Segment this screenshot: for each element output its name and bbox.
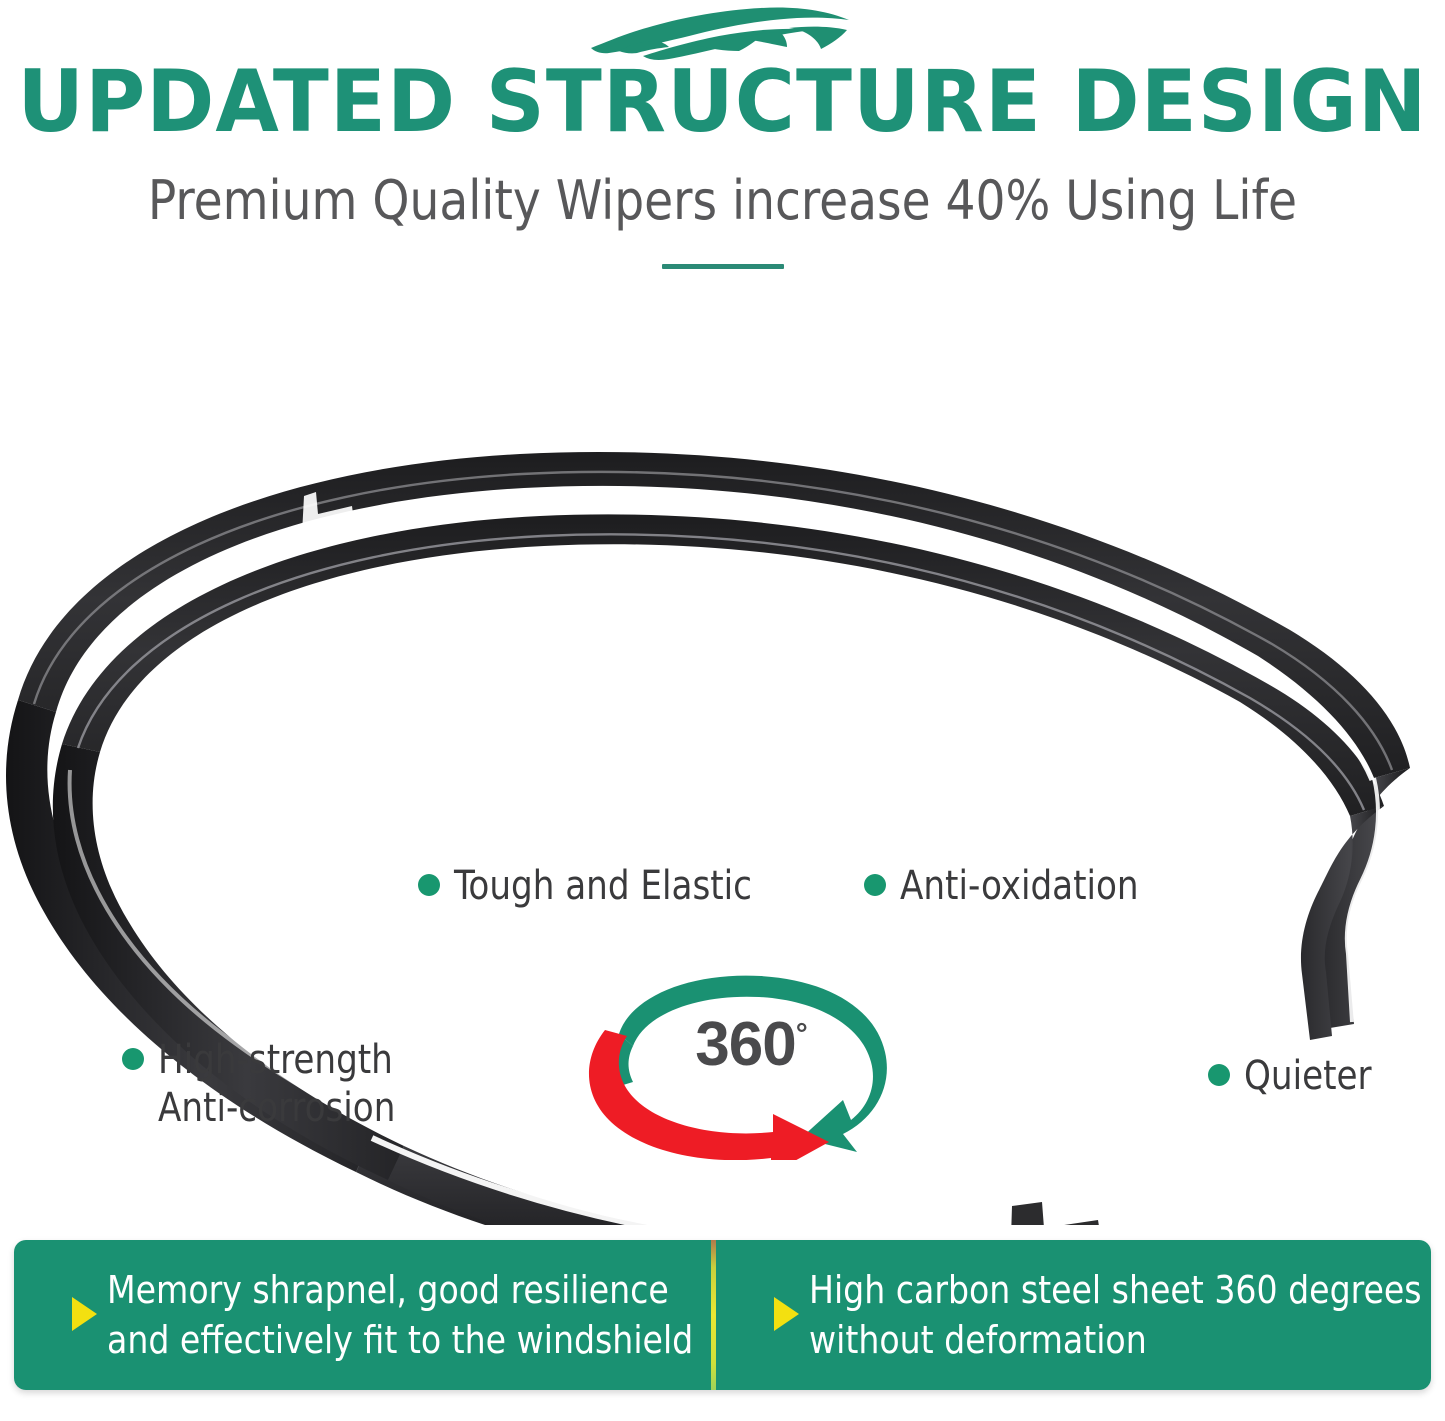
banner-panel-text: Memory shrapnel, good resilience and eff… (107, 1265, 693, 1365)
bullet-dot-icon (1208, 1064, 1230, 1086)
feature-tough-and-elastic: Tough and Elastic (418, 862, 768, 910)
feature-label-text: Anti-oxidation (900, 862, 1139, 910)
feature-label-text: Tough and Elastic (454, 862, 752, 910)
feature-anti-oxidation: Anti-oxidation (864, 862, 1151, 910)
banner-line-1: High carbon steel sheet 360 degrees (809, 1268, 1422, 1312)
triangle-arrow-icon (72, 1297, 97, 1331)
bullet-dot-icon (864, 874, 886, 896)
banner-line-1: Memory shrapnel, good resilience (107, 1268, 669, 1312)
feature-label-line-1: High-strength (158, 1037, 393, 1083)
feature-label-line-2: Anti-corrosion (158, 1084, 395, 1132)
banner-line-2: and effectively fit to the windshield (107, 1315, 693, 1365)
banner-line-2: without deformation (809, 1315, 1422, 1365)
360-value: 360 (695, 1010, 795, 1079)
banner-panel-high-carbon-steel: High carbon steel sheet 360 degrees with… (716, 1240, 1431, 1390)
bullet-dot-icon (122, 1048, 144, 1070)
page-title: UPDATED STRUCTURE DESIGN (0, 56, 1445, 149)
banner-panel-memory-shrapnel: Memory shrapnel, good resilience and eff… (14, 1240, 711, 1390)
benefits-banner: Memory shrapnel, good resilience and eff… (14, 1240, 1431, 1390)
feature-high-strength-anti-corrosion: High-strength Anti-corrosion (122, 1036, 408, 1132)
header-section: UPDATED STRUCTURE DESIGN Premium Quality… (0, 0, 1445, 300)
degree-symbol: ° (796, 1017, 807, 1050)
triangle-arrow-icon (774, 1297, 799, 1331)
feature-label-text: Quieter (1244, 1052, 1372, 1100)
feature-label-text-block: High-strength Anti-corrosion (158, 1036, 395, 1132)
title-underline-rule (662, 264, 784, 269)
banner-panel-text: High carbon steel sheet 360 degrees with… (809, 1265, 1422, 1365)
rotation-360-badge: 360° (575, 960, 915, 1160)
feature-quieter: Quieter (1208, 1052, 1378, 1100)
page-subtitle: Premium Quality Wipers increase 40% Usin… (22, 170, 1424, 232)
bullet-dot-icon (418, 874, 440, 896)
product-showcase-section: Tough and Elastic Anti-oxidation High-st… (0, 300, 1445, 1225)
360-badge-text: 360° (661, 1014, 841, 1076)
